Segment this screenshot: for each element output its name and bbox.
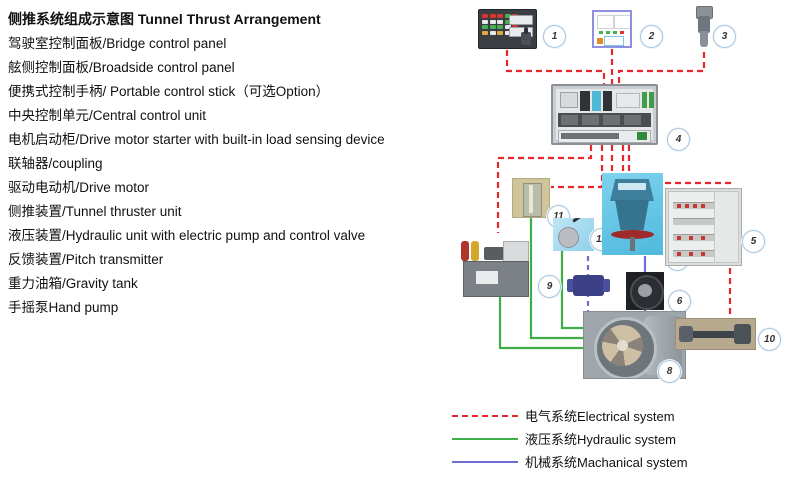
thruster-shaft: [630, 237, 635, 251]
electric-pump: [484, 247, 504, 260]
transmitter-end-right: [734, 324, 751, 344]
list-item-hydraulic-unit: 液压装置/Hydraulic unit with electric pump a…: [8, 224, 458, 248]
transmitter-end-left: [679, 326, 693, 342]
badge-5: 5: [742, 230, 765, 253]
list-item-drive-motor: 驱动电动机/Drive motor: [8, 176, 458, 200]
legend-item-hydraulic: 液压系统Hydraulic system: [452, 427, 688, 450]
motor-hub: [638, 284, 652, 297]
badge-10: 10: [758, 328, 781, 351]
list-item-central-control-unit: 中央控制单元/Central control unit: [8, 104, 458, 128]
list-item-drive-motor-starter: 电机启动柜/Drive motor starter with built-in …: [8, 128, 458, 152]
drive-motor-image[interactable]: [626, 272, 664, 310]
legend-label-electrical: 电气系统Electrical system: [525, 406, 675, 425]
coupling-body: [573, 275, 604, 296]
bridge-control-panel-image[interactable]: [478, 9, 537, 49]
badge-3: 3: [713, 25, 736, 48]
propeller-hub: [617, 340, 628, 351]
tunnel-thruster-unit-image[interactable]: [602, 173, 663, 255]
list-item-bridge-control-panel: 驾驶室控制面板/Bridge control panel: [8, 32, 458, 56]
cabinet-interior: [556, 89, 653, 140]
list-item-tunnel-thruster-unit: 侧推装置/Tunnel thruster unit: [8, 200, 458, 224]
hand-pump-image[interactable]: [553, 218, 594, 251]
legend-item-mechanical: 机械系统Machanical system: [452, 450, 688, 473]
component-text-list: 侧推系统组成示意图 Tunnel Thrust Arrangement 驾驶室控…: [8, 6, 458, 320]
badge-9: 9: [538, 275, 561, 298]
pitch-transmitter-image[interactable]: [675, 318, 756, 350]
badge-1: 1: [543, 25, 566, 48]
system-legend: 电气系统Electrical system 液压系统Hydraulic syst…: [452, 404, 688, 473]
legend-label-mechanical: 机械系统Machanical system: [525, 452, 688, 471]
pump-handle: [572, 218, 587, 223]
tank-nameplate: [476, 271, 498, 284]
sight-glass: [529, 185, 533, 213]
filter-yellow: [471, 241, 479, 261]
badge-8: 8: [658, 360, 681, 383]
system-diagram: 1 2 3: [455, 0, 788, 400]
broadside-control-panel-image[interactable]: [592, 10, 632, 48]
mechanical-line-swatch: [452, 461, 518, 463]
cabinet-door: [668, 191, 718, 263]
stick-grip: [700, 31, 708, 47]
page-title: 侧推系统组成示意图 Tunnel Thrust Arrangement: [8, 6, 458, 32]
drive-motor-starter-image[interactable]: [665, 188, 742, 266]
screen-right: [614, 15, 631, 29]
badge-6: 6: [668, 290, 691, 313]
keypad: [604, 36, 624, 46]
list-item-coupling: 联轴器/coupling: [8, 152, 458, 176]
hydraulic-unit-image[interactable]: [458, 235, 533, 297]
legend-label-hydraulic: 液压系统Hydraulic system: [525, 429, 676, 448]
pump-housing: [558, 227, 579, 248]
central-control-unit-image[interactable]: [551, 84, 658, 145]
list-item-portable-control-stick: 便携式控制手柄/ Portable control stick（可选Option…: [8, 80, 458, 104]
thruster-nameplate: [618, 183, 646, 190]
joystick-lever: [521, 32, 531, 45]
portable-control-stick-image[interactable]: [692, 6, 716, 52]
coupling-image[interactable]: [567, 272, 610, 300]
cabinet-side-panel: [714, 191, 739, 263]
badge-4: 4: [667, 128, 690, 151]
electrical-line-swatch: [452, 415, 518, 417]
list-item-pitch-transmitter: 反馈装置/Pitch transmitter: [8, 248, 458, 272]
thruster-body: [615, 200, 649, 230]
gravity-tank-image[interactable]: [512, 178, 550, 218]
list-item-broadside-control-panel: 舷侧控制面板/Broadside control panel: [8, 56, 458, 80]
screen-left: [597, 15, 614, 29]
badge-2: 2: [640, 25, 663, 48]
filter-red: [461, 241, 469, 261]
display-upper: [509, 15, 533, 25]
list-item-gravity-tank: 重力油箱/Gravity tank: [8, 272, 458, 296]
hydraulic-line-swatch: [452, 438, 518, 440]
legend-item-electrical: 电气系统Electrical system: [452, 404, 688, 427]
list-item-hand-pump: 手摇泵Hand pump: [8, 296, 458, 320]
